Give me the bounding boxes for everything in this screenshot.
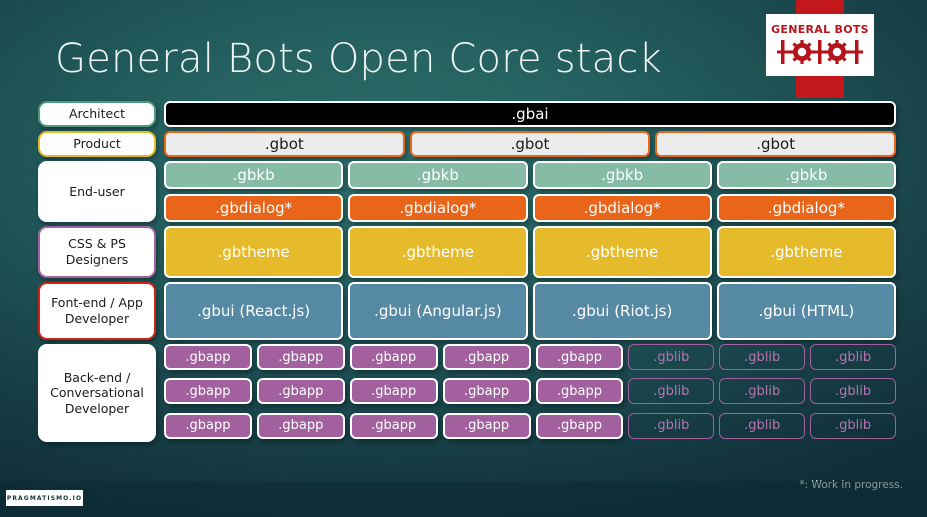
cell-gbapp[interactable]: .gbapp [257,344,345,370]
cell-gbot[interactable]: .gbot [410,131,651,157]
cells-gbdialog: .gbdialog* .gbdialog* .gbdialog* .gbdial… [164,194,896,222]
cell-gblib[interactable]: .gblib [810,413,896,439]
cell-gbapp[interactable]: .gbapp [164,378,252,404]
logo-wordmark: GENERAL BOTS [771,24,869,35]
cells-backend-row: .gbapp .gbapp .gbapp .gbapp .gbapp .gbli… [164,378,896,407]
backend-line1: Back-end / [64,370,131,385]
cell-gbapp[interactable]: .gbapp [164,344,252,370]
cell-gbapp[interactable]: .gbapp [164,413,252,439]
css-ps-line1: CSS & PS [68,236,126,251]
cell-gbapp[interactable]: .gbapp [350,344,438,370]
cell-gbkb[interactable]: .gbkb [533,161,712,189]
cell-gbapp[interactable]: .gbapp [443,344,531,370]
gears-icon [777,37,863,67]
cell-gbtheme[interactable]: .gbtheme [533,226,712,278]
row-product: Product .gbot .gbot .gbot [38,131,896,157]
cell-gbapp[interactable]: .gbapp [536,378,624,404]
frontend-line2: Developer [65,311,129,326]
label-col-product: Product [38,131,156,157]
cell-gbui-react[interactable]: .gbui (React.js) [164,282,343,340]
cells-gbkb: .gbkb .gbkb .gbkb .gbkb [164,161,896,189]
cell-gbdialog[interactable]: .gbdialog* [533,194,712,222]
backend-line3: Developer [65,401,129,416]
cell-gbapp[interactable]: .gbapp [257,413,345,439]
role-label-end-user: End-user [38,161,156,222]
row-architect: Architect .gbai [38,101,896,127]
cell-gbtheme[interactable]: .gbtheme [717,226,896,278]
cell-gbapp[interactable]: .gbapp [443,378,531,404]
cell-gbai[interactable]: .gbai [164,101,896,127]
cell-gbkb[interactable]: .gbkb [717,161,896,189]
cell-gbdialog[interactable]: .gbdialog* [348,194,527,222]
row-frontend-developer: Font-end / App Developer .gbui (React.js… [38,282,896,340]
slide-canvas: GENERAL BOTS [0,0,927,517]
cell-gbtheme[interactable]: .gbtheme [164,226,343,278]
label-col-frontend: Font-end / App Developer [38,282,156,340]
role-label-frontend-developer: Font-end / App Developer [38,282,156,340]
stack-diagram: Architect .gbai Product .gbot .gbot .gbo… [38,101,896,446]
cell-gblib[interactable]: .gblib [719,413,805,439]
slide-footer: PRAGMATISMO.IO 2018Q4 - Corporate [0,481,927,517]
cell-gbtheme[interactable]: .gbtheme [348,226,527,278]
label-col-backend: Back-end / Conversational Developer [38,344,156,442]
cell-gblib[interactable]: .gblib [628,378,714,404]
cell-gbui-riot[interactable]: .gbui (Riot.js) [533,282,712,340]
cell-gbui-html[interactable]: .gbui (HTML) [717,282,896,340]
general-bots-logo: GENERAL BOTS [766,14,874,76]
cells-gbtheme: .gbtheme .gbtheme .gbtheme .gbtheme [164,226,896,278]
page-title: General Bots Open Core stack [55,36,662,82]
role-label-architect: Architect [38,101,156,127]
cell-gbapp[interactable]: .gbapp [443,413,531,439]
cell-gbapp[interactable]: .gbapp [257,378,345,404]
footer-label: 2018Q4 - Corporate [90,486,269,507]
cell-gblib[interactable]: .gblib [628,344,714,370]
cell-gbdialog[interactable]: .gbdialog* [717,194,896,222]
cell-gbot[interactable]: .gbot [655,131,896,157]
cell-gblib[interactable]: .gblib [810,378,896,404]
cell-gblib[interactable]: .gblib [719,344,805,370]
cells-backend-row: .gbapp .gbapp .gbapp .gbapp .gbapp .gbli… [164,344,896,373]
cells-architect: .gbai [164,101,896,127]
cell-gbkb[interactable]: .gbkb [348,161,527,189]
cells-end-user: .gbkb .gbkb .gbkb .gbkb .gbdialog* .gbdi… [164,161,896,222]
cell-gbui-angular[interactable]: .gbui (Angular.js) [348,282,527,340]
label-col-css-ps: CSS & PS Designers [38,226,156,278]
row-end-user: End-user .gbkb .gbkb .gbkb .gbkb .gbdial… [38,161,896,222]
cell-gbdialog[interactable]: .gbdialog* [164,194,343,222]
role-label-backend-developer: Back-end / Conversational Developer [38,344,156,442]
cells-gbui: .gbui (React.js) .gbui (Angular.js) .gbu… [164,282,896,340]
label-col-architect: Architect [38,101,156,127]
cell-gbapp[interactable]: .gbapp [536,413,624,439]
cell-gbapp[interactable]: .gbapp [350,413,438,439]
row-css-ps-designers: CSS & PS Designers .gbtheme .gbtheme .gb… [38,226,896,278]
frontend-line1: Font-end / App [51,295,143,310]
cells-backend-row: .gbapp .gbapp .gbapp .gbapp .gbapp .gbli… [164,413,896,442]
cell-gbkb[interactable]: .gbkb [164,161,343,189]
cell-gbapp[interactable]: .gbapp [350,378,438,404]
backend-line2: Conversational [50,385,144,400]
cell-gblib[interactable]: .gblib [810,344,896,370]
cell-gblib[interactable]: .gblib [719,378,805,404]
cell-gblib[interactable]: .gblib [628,413,714,439]
cell-gbot[interactable]: .gbot [164,131,405,157]
css-ps-line2: Designers [66,252,129,267]
pragmatismo-logo: PRAGMATISMO.IO [6,490,83,506]
cells-product: .gbot .gbot .gbot [164,131,896,157]
cells-backend: .gbapp .gbapp .gbapp .gbapp .gbapp .gbli… [164,344,896,442]
cell-gbapp[interactable]: .gbapp [536,344,624,370]
label-col-end-user: End-user [38,161,156,222]
role-label-product: Product [38,131,156,157]
role-label-css-ps-designers: CSS & PS Designers [38,226,156,278]
row-backend-developer: Back-end / Conversational Developer .gba… [38,344,896,442]
